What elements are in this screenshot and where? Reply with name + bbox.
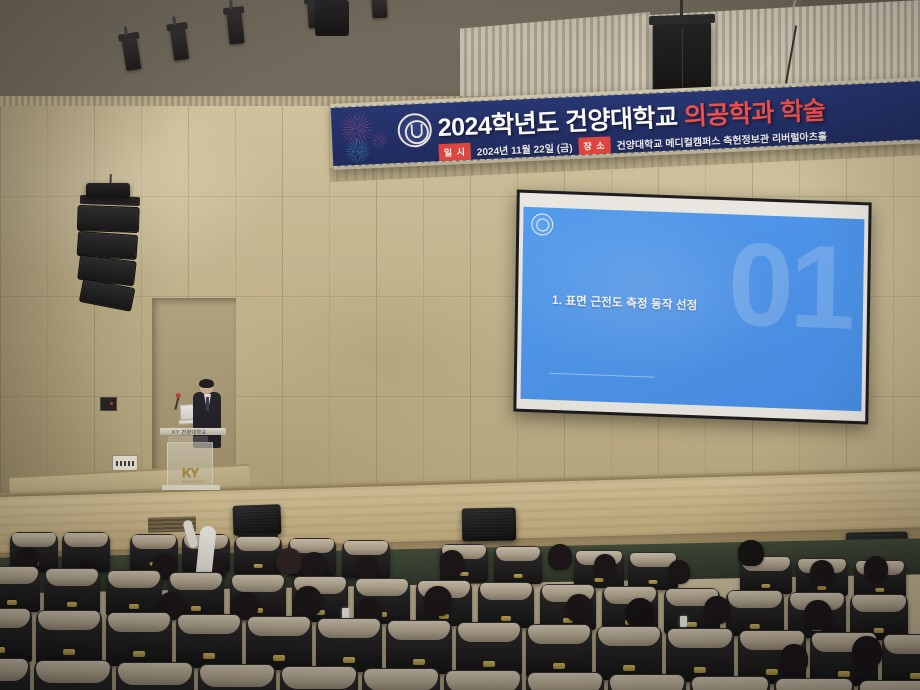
seat bbox=[106, 612, 172, 666]
firework-graphic-icon bbox=[370, 130, 389, 149]
audience-head bbox=[810, 560, 834, 586]
audience-head bbox=[356, 556, 378, 580]
seat bbox=[526, 672, 604, 690]
wall-junction-box bbox=[112, 455, 138, 471]
audience-phone bbox=[680, 616, 687, 627]
banner-title-highlight: 의공학과 학술 bbox=[683, 97, 826, 131]
banner-date-value: 2024년 11월 22일 (금) bbox=[477, 139, 573, 158]
university-emblem-icon bbox=[397, 112, 433, 148]
presenter-tie bbox=[206, 397, 209, 411]
seat bbox=[526, 624, 592, 678]
seat bbox=[0, 658, 30, 690]
seat bbox=[234, 536, 282, 574]
seat bbox=[456, 622, 522, 676]
slide-section-number: 01 bbox=[727, 236, 852, 337]
screen-surface: 01 1. 표면 근전도 측정 동작 선정 bbox=[516, 193, 868, 422]
audience-head bbox=[780, 644, 808, 674]
audience-seating bbox=[0, 520, 920, 690]
seat bbox=[106, 570, 162, 616]
seat bbox=[858, 680, 920, 690]
audience-head bbox=[294, 586, 322, 616]
seat bbox=[444, 670, 522, 690]
firework-graphic-icon bbox=[344, 137, 371, 164]
stage-spotlight bbox=[371, 0, 387, 18]
audience-head bbox=[424, 586, 452, 616]
seat bbox=[246, 616, 312, 670]
podium-ky-logo: KY bbox=[182, 465, 198, 480]
seat bbox=[774, 678, 854, 690]
podium-body: KY KONYANG UNIVERSITY bbox=[167, 442, 213, 486]
seat bbox=[44, 568, 100, 614]
ceiling-speaker-small bbox=[86, 183, 130, 198]
audience-head bbox=[566, 594, 592, 622]
audience-head bbox=[738, 540, 764, 566]
audience-head bbox=[626, 598, 654, 628]
ceiling-hanging-speaker-small bbox=[315, 0, 349, 36]
indicator-light-icon bbox=[110, 402, 113, 405]
seat bbox=[36, 610, 102, 664]
seat bbox=[116, 662, 194, 690]
audience-head bbox=[704, 596, 730, 624]
line-array-module bbox=[77, 205, 140, 233]
audience-head bbox=[594, 554, 616, 578]
audience-head bbox=[302, 552, 326, 578]
seat bbox=[608, 674, 686, 690]
lectern-podium: KY 건양대학교 KY KONYANG UNIVERSITY bbox=[160, 428, 226, 490]
auditorium-photo: 2024학년도 건양대학교 의공학과 학술 일 시 2024년 11월 22일 … bbox=[0, 0, 920, 690]
audience-head bbox=[276, 548, 302, 574]
seat bbox=[198, 664, 276, 690]
audience-head bbox=[864, 556, 888, 582]
seat bbox=[494, 546, 542, 584]
audience-head bbox=[440, 550, 464, 576]
seat bbox=[176, 614, 242, 668]
seat bbox=[386, 620, 452, 674]
wall-control-panel[interactable] bbox=[100, 397, 117, 411]
stage-spotlight bbox=[226, 11, 244, 44]
banner-date-tag: 일 시 bbox=[438, 143, 471, 161]
seat bbox=[316, 618, 382, 672]
seat bbox=[690, 676, 770, 690]
seat bbox=[0, 608, 32, 662]
seat bbox=[34, 660, 112, 690]
audience-head bbox=[852, 636, 882, 668]
presentation-slide: 01 1. 표면 근전도 측정 동작 선정 bbox=[521, 207, 865, 411]
podium-base bbox=[162, 485, 220, 490]
seat bbox=[596, 626, 662, 680]
seat bbox=[280, 666, 358, 690]
presenter-hair bbox=[199, 379, 214, 388]
audience-head bbox=[804, 600, 832, 630]
banner-place-tag: 장 소 bbox=[578, 136, 611, 154]
podium-nameplate: KY 건양대학교 bbox=[172, 429, 206, 436]
audience-head bbox=[548, 544, 572, 570]
seat bbox=[362, 668, 440, 690]
seat bbox=[0, 566, 40, 612]
projection-screen: 01 1. 표면 근전도 측정 동작 선정 bbox=[513, 190, 871, 425]
line-array-speaker bbox=[70, 195, 146, 315]
audience-head bbox=[668, 560, 690, 584]
